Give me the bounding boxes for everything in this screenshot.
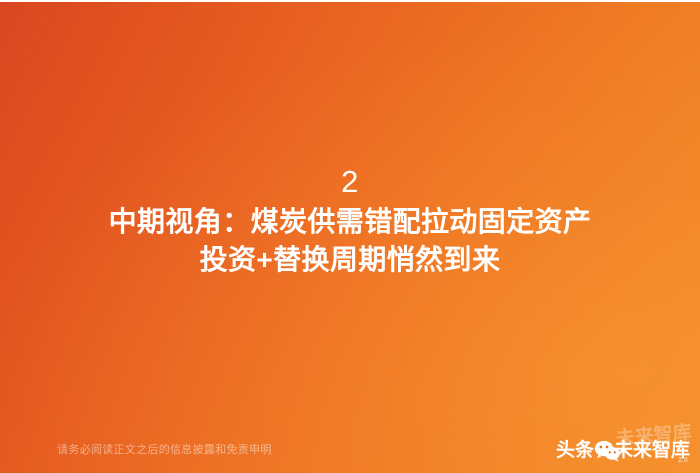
presentation-slide: 2 中期视角：煤炭供需错配拉动固定资产 投资+替换周期悄然到来 请务必阅读正文之… [0, 0, 700, 473]
watermark: 头条 未来智库 未来智库 2.0 [556, 434, 700, 468]
title-line-2: 投资+替换周期悄然到来 [0, 241, 700, 279]
watermark-platform-label: 头条 [556, 440, 594, 462]
watermark-brand-suffix: 2.0 [678, 456, 688, 465]
footer-disclaimer: 请务必阅读正文之后的信息披露和免责申明 [57, 443, 272, 458]
title-line-1: 中期视角：煤炭供需错配拉动固定资产 [0, 203, 700, 241]
page-title: 中期视角：煤炭供需错配拉动固定资产 投资+替换周期悄然到来 [0, 203, 700, 279]
slide-heading-block: 2 中期视角：煤炭供需错配拉动固定资产 投资+替换周期悄然到来 [0, 163, 700, 279]
section-number: 2 [0, 163, 700, 201]
top-edge-divider [0, 0, 700, 2]
